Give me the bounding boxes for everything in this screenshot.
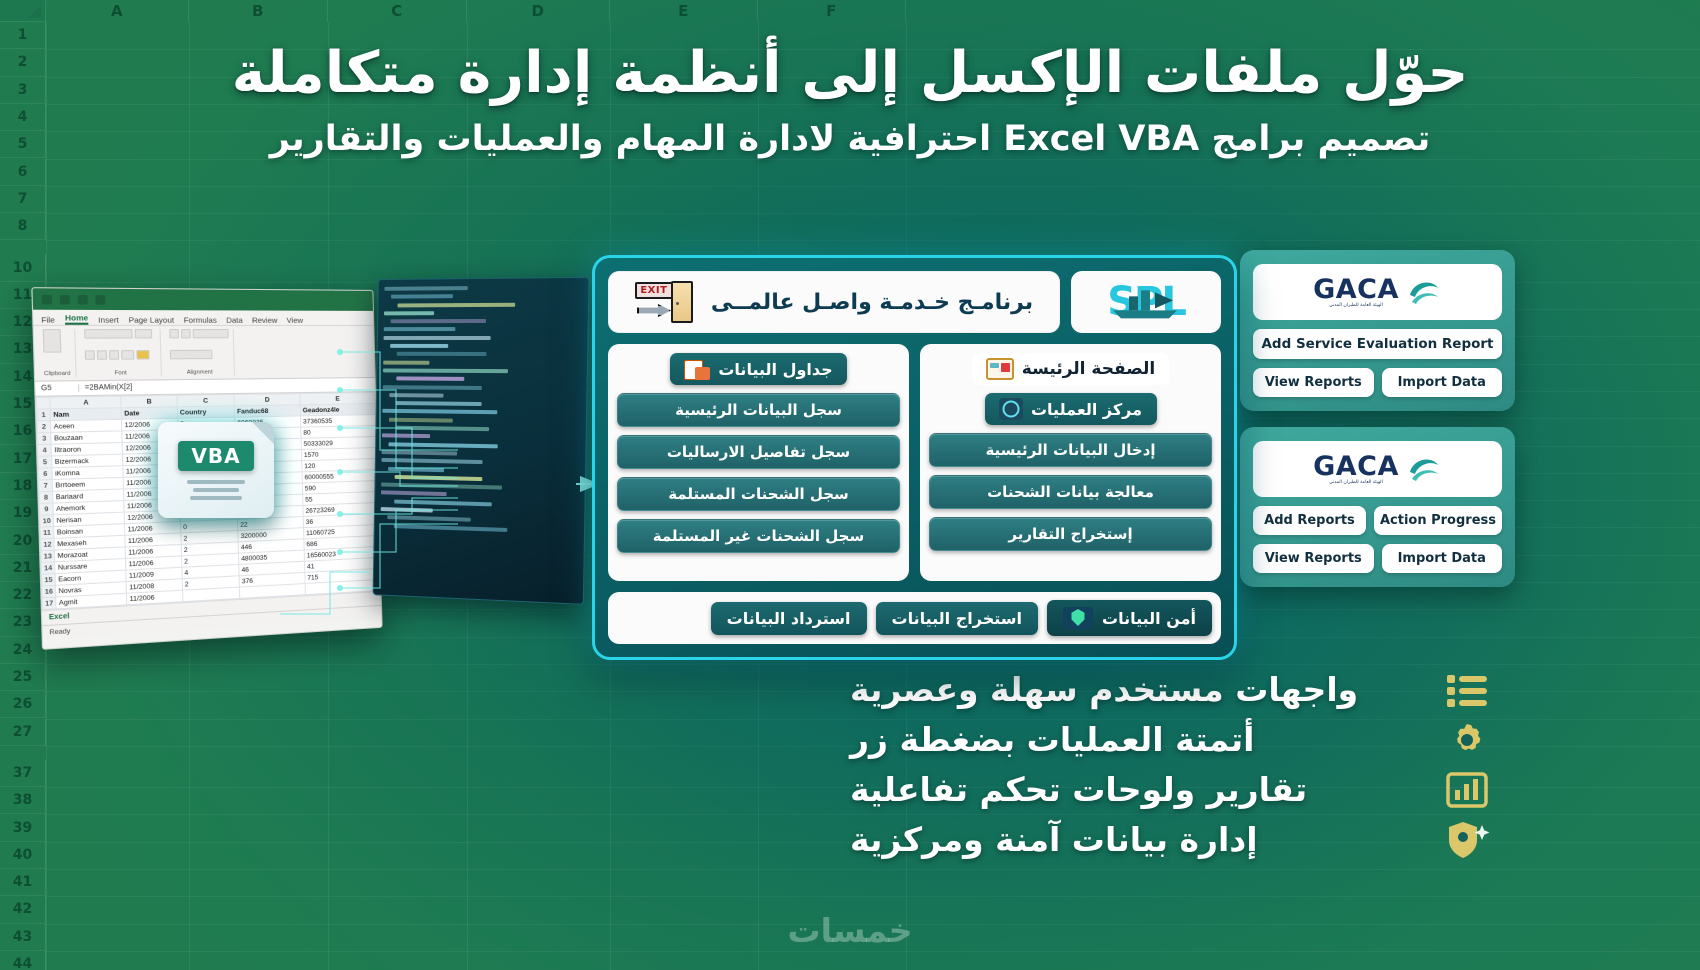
sheet-col-C[interactable]: C: [177, 395, 234, 407]
gaca-swoosh-icon: [1406, 275, 1442, 309]
sheet-row-number[interactable]: 11: [40, 527, 54, 539]
excel-tab-view[interactable]: View: [286, 316, 303, 325]
button-unreceived-shipments-log[interactable]: سجل الشحنات غير المستلمة: [617, 519, 900, 553]
sheet-row-number[interactable]: 10: [40, 515, 54, 527]
dashboard-bottom-bar: أمن البيانات استخراج البيانات استرداد ال…: [608, 592, 1221, 644]
font-name-input[interactable]: [84, 329, 133, 339]
sheet-row-number[interactable]: 4: [38, 444, 52, 456]
underline-icon[interactable]: [109, 350, 119, 360]
home-column-heading[interactable]: الصفحة الرئيسة: [972, 353, 1169, 385]
gaca-logo-text: GACA: [1313, 276, 1399, 303]
sheet-col-B[interactable]: B: [121, 395, 177, 407]
excel-tab-file[interactable]: File: [41, 315, 55, 325]
sheet-row-number[interactable]: 15: [41, 574, 55, 586]
italic-icon[interactable]: [96, 350, 106, 360]
row-header-8[interactable]: 8: [0, 213, 46, 240]
row-header-7[interactable]: 7: [0, 186, 46, 213]
excel-tab-formulas[interactable]: Formulas: [184, 315, 217, 324]
chart-icon: [1444, 768, 1490, 812]
redo-icon[interactable]: [78, 294, 88, 304]
sheet-row-number[interactable]: 3: [37, 432, 51, 444]
gaca-panels: GACA الهيئة العامة للطيران المدني Add Se…: [1240, 250, 1515, 587]
code-line: [397, 352, 487, 356]
row-header-44[interactable]: 44: [0, 951, 46, 970]
button-view-reports[interactable]: View Reports: [1253, 544, 1374, 573]
dashboard-columns: جداول البيانات سجل البيانات الرئيسية سجل…: [608, 344, 1221, 581]
sheet-row-number[interactable]: 2: [37, 421, 51, 433]
code-line: [390, 344, 448, 348]
column-header-e[interactable]: E: [610, 0, 758, 22]
excel-code-collage: FileHomeInsertPage LayoutFormulasDataRev…: [40, 272, 600, 644]
excel-tab-insert[interactable]: Insert: [98, 315, 119, 325]
code-line: [389, 393, 443, 398]
code-line: [384, 311, 434, 315]
code-line: [381, 483, 502, 490]
gridline: [46, 896, 1700, 897]
code-line: [381, 491, 447, 497]
sheet-row-number[interactable]: 1: [37, 409, 51, 421]
wrap-text-button[interactable]: [192, 329, 228, 338]
row-header-41[interactable]: 41: [0, 869, 46, 896]
operations-icon: [999, 398, 1023, 420]
sheet-row-number[interactable]: 8: [39, 491, 53, 503]
arrow-right-icon: [637, 304, 671, 317]
gaca-swoosh-icon: [1406, 452, 1442, 486]
dashboard-header-row: برنامـج خـدمـة واصـل عالمــى EXIT SPL: [608, 271, 1221, 333]
tables-icon: [684, 358, 710, 380]
gaca-logo-card: GACA الهيئة العامة للطيران المدني: [1253, 264, 1502, 320]
button-export-data[interactable]: استخراج البيانات: [876, 602, 1038, 635]
gaca-logo-card: GACA الهيئة العامة للطيران المدني: [1253, 441, 1502, 497]
paste-icon[interactable]: [43, 329, 62, 353]
code-line: [395, 426, 489, 431]
code-line: [388, 442, 497, 448]
code-line: [394, 524, 507, 532]
sheet-row-number[interactable]: 17: [42, 597, 56, 610]
exit-icon[interactable]: EXIT: [635, 281, 695, 323]
row-header-27[interactable]: 27: [0, 719, 46, 746]
ribbon-group-clipboard[interactable]: Clipboard: [38, 329, 76, 377]
code-line: [391, 294, 453, 298]
gaca-row-1: Add Reports Action Progress: [1253, 506, 1502, 535]
ribbon-group-alignment[interactable]: Alignment: [164, 329, 234, 376]
code-line: [391, 319, 486, 323]
gaca-logo-text: GACA: [1313, 453, 1399, 480]
gridline: [46, 664, 1700, 665]
sheet-row-number[interactable]: 7: [39, 480, 53, 492]
code-line: [381, 507, 433, 513]
button-add-reports[interactable]: Add Reports: [1253, 506, 1366, 535]
page-subtitle: تصميم برامج Excel VBA احترافية لادارة ال…: [0, 118, 1700, 160]
code-line: [384, 328, 456, 332]
tables-column-heading[interactable]: جداول البيانات: [670, 353, 846, 385]
code-line: [394, 499, 492, 506]
column-headers: ABCDEF: [46, 0, 1700, 22]
code-line: [395, 475, 483, 481]
button-received-shipments-log[interactable]: سجل الشحنات المستلمة: [617, 477, 900, 511]
sheet-row-number[interactable]: 14: [41, 562, 55, 574]
code-line: [383, 368, 508, 373]
row-header-40[interactable]: 40: [0, 842, 46, 869]
sheet-row-number[interactable]: 6: [38, 468, 52, 480]
excel-tab-page-layout[interactable]: Page Layout: [128, 315, 174, 325]
code-line: [384, 286, 467, 291]
headline-block: حوّل ملفات الإكسل إلى أنظمة إدارة متكامل…: [0, 42, 1700, 160]
page-title: حوّل ملفات الإكسل إلى أنظمة إدارة متكامل…: [0, 42, 1700, 106]
operations-center-heading[interactable]: مركز العمليات: [985, 393, 1157, 425]
undo-icon[interactable]: [60, 294, 70, 304]
button-extract-reports[interactable]: إستخراج التقارير: [929, 517, 1212, 551]
ribbon-group-caption: Alignment: [170, 369, 229, 376]
ribbon-group-caption: Font: [85, 370, 156, 377]
row-header-38[interactable]: 38: [0, 787, 46, 814]
code-line: [388, 466, 444, 471]
row-header-26[interactable]: 26: [0, 691, 46, 718]
gear-icon: [1444, 718, 1490, 762]
button-action-progress[interactable]: Action Progress: [1374, 506, 1502, 535]
code-line: [384, 336, 491, 340]
shield-data-icon: [1063, 607, 1093, 629]
fill-color-icon[interactable]: [136, 350, 149, 360]
bold-icon[interactable]: [84, 350, 94, 360]
shield-icon: [1444, 818, 1490, 862]
sheet-row-number[interactable]: 16: [42, 585, 56, 598]
home-heading-label: الصفحة الرئيسة: [1022, 359, 1155, 379]
gridline: [46, 240, 1700, 241]
code-line: [396, 401, 482, 406]
vba-doc-lines-icon: [187, 480, 245, 500]
operations-heading-label: مركز العمليات: [1031, 400, 1142, 419]
app-title: برنامـج خـدمـة واصـل عالمــى: [711, 290, 1033, 315]
column-header-a[interactable]: A: [46, 0, 189, 22]
sheet-row-number[interactable]: 9: [39, 503, 53, 515]
code-line: [398, 302, 516, 307]
button-shipment-details-log[interactable]: سجل تفاصيل الارساليات: [617, 435, 900, 469]
spl-ship-icon: [1107, 286, 1185, 320]
sheet-corner: [36, 397, 50, 409]
code-line: [396, 377, 464, 381]
column-header-d[interactable]: D: [467, 0, 610, 22]
align-center-icon[interactable]: [180, 329, 190, 338]
vba-app-dashboard: برنامـج خـدمـة واصـل عالمــى EXIT SPL: [592, 255, 1237, 660]
select-all-corner[interactable]: [0, 0, 46, 22]
button-process-shipment-data[interactable]: معالجة بيانات الشحنات: [929, 475, 1212, 509]
code-line: [382, 409, 497, 414]
status-text: Ready: [49, 627, 70, 636]
excel-ribbon[interactable]: Clipboard Font: [34, 326, 375, 382]
formula-input[interactable]: =2BAMin(X[2]: [85, 384, 133, 392]
feature-list: واجهات مستخدم سهلة وعصرية أتمتة العمليات…: [850, 668, 1490, 862]
sheet-tab-label: Excel: [49, 613, 70, 622]
excel-tab-data[interactable]: Data: [226, 316, 243, 325]
feature-label: أتمتة العمليات بضغطة زر: [850, 720, 1422, 760]
feature-item: واجهات مستخدم سهلة وعصرية: [850, 668, 1490, 712]
merge-cells-button[interactable]: [169, 349, 212, 359]
code-line: [383, 360, 429, 364]
home-column: الصفحة الرئيسة مركز العمليات إدخال البيا…: [920, 344, 1221, 581]
ribbon-group-font[interactable]: Font: [79, 329, 161, 377]
row-header-6[interactable]: 6: [0, 159, 46, 186]
gaca-panel-evaluation: GACA الهيئة العامة للطيران المدني Add Se…: [1240, 250, 1515, 411]
gridline: [46, 186, 1700, 187]
tables-heading-label: جداول البيانات: [718, 360, 832, 379]
feature-item: إدارة بيانات آمنة ومركزية: [850, 818, 1490, 862]
gaca-logo-subtext: الهيئة العامة للطيران المدني: [1329, 303, 1383, 308]
app-title-card: برنامـج خـدمـة واصـل عالمــى EXIT: [608, 271, 1060, 333]
column-header-c[interactable]: C: [328, 0, 467, 22]
tables-column: جداول البيانات سجل البيانات الرئيسية سجل…: [608, 344, 909, 581]
code-line: [382, 458, 483, 464]
name-box[interactable]: G5: [41, 384, 79, 392]
vba-file-icon: VBA: [158, 422, 274, 518]
save-icon[interactable]: [42, 294, 52, 304]
button-view-reports[interactable]: View Reports: [1253, 368, 1374, 397]
excel-quick-access-toolbar[interactable]: [32, 288, 373, 311]
gridline: [46, 213, 1700, 214]
button-enter-main-data[interactable]: إدخال البيانات الرئيسية: [929, 433, 1212, 467]
feature-label: واجهات مستخدم سهلة وعصرية: [850, 670, 1422, 710]
button-main-data-log[interactable]: سجل البيانات الرئيسية: [617, 393, 900, 427]
gridline: [46, 869, 1700, 870]
feature-item: أتمتة العمليات بضغطة زر: [850, 718, 1490, 762]
button-import-data[interactable]: Import Data: [1382, 368, 1503, 397]
button-restore-data[interactable]: استرداد البيانات: [711, 602, 867, 635]
data-security-label: أمن البيانات: [1102, 609, 1196, 628]
watermark: خمسات: [0, 911, 1700, 950]
vba-code-editor[interactable]: [373, 277, 590, 605]
font-size-input[interactable]: [134, 329, 152, 338]
sheet-row-number[interactable]: 13: [41, 550, 55, 562]
column-header-b[interactable]: B: [189, 0, 328, 22]
board-icon: [986, 358, 1014, 380]
column-header-f[interactable]: F: [758, 0, 906, 22]
sheet-row-number[interactable]: 5: [38, 456, 52, 468]
sheet-row-number[interactable]: 12: [40, 538, 54, 550]
code-line: [389, 417, 453, 422]
feature-item: تقارير ولوحات تحكم تفاعلية: [850, 768, 1490, 812]
border-icon[interactable]: [121, 350, 134, 360]
gaca-panel-reports: GACA الهيئة العامة للطيران المدني Add Re…: [1240, 427, 1515, 587]
code-line: [382, 434, 430, 439]
door-icon: [671, 281, 693, 323]
ribbon-group-caption: Clipboard: [44, 371, 71, 378]
list-icon: [1444, 668, 1490, 712]
banner-canvas: ABCDEF 123456781011121314151617181920212…: [0, 0, 1700, 970]
gaca-secondary-row: View Reports Import Data: [1253, 368, 1502, 397]
button-import-data[interactable]: Import Data: [1382, 544, 1503, 573]
vba-badge-label: VBA: [178, 441, 253, 471]
row-header-25[interactable]: 25: [0, 664, 46, 691]
excel-tab-home[interactable]: Home: [65, 313, 89, 325]
excel-ribbon-tabs[interactable]: FileHomeInsertPage LayoutFormulasDataRev…: [33, 310, 373, 326]
code-line: [387, 515, 471, 522]
code-line: [382, 450, 457, 455]
button-data-security[interactable]: أمن البيانات: [1047, 600, 1212, 636]
gaca-primary-row: Add Service Evaluation Report: [1253, 329, 1502, 359]
code-line: [383, 385, 482, 390]
feature-label: إدارة بيانات آمنة ومركزية: [850, 820, 1422, 860]
gaca-logo-subtext: الهيئة العامة للطيران المدني: [1329, 480, 1383, 485]
align-left-icon[interactable]: [169, 329, 179, 338]
feature-label: تقارير ولوحات تحكم تفاعلية: [850, 770, 1422, 810]
exit-sign-label: EXIT: [635, 282, 673, 299]
row-header-39[interactable]: 39: [0, 814, 46, 841]
button-add-service-evaluation-report[interactable]: Add Service Evaluation Report: [1253, 329, 1502, 359]
gridline: [46, 951, 1700, 952]
gaca-row-2: View Reports Import Data: [1253, 544, 1502, 573]
customize-icon[interactable]: [95, 295, 105, 305]
spl-logo-card: SPL: [1071, 271, 1221, 333]
row-header-37[interactable]: 37: [0, 760, 46, 787]
excel-tab-review[interactable]: Review: [252, 316, 278, 325]
